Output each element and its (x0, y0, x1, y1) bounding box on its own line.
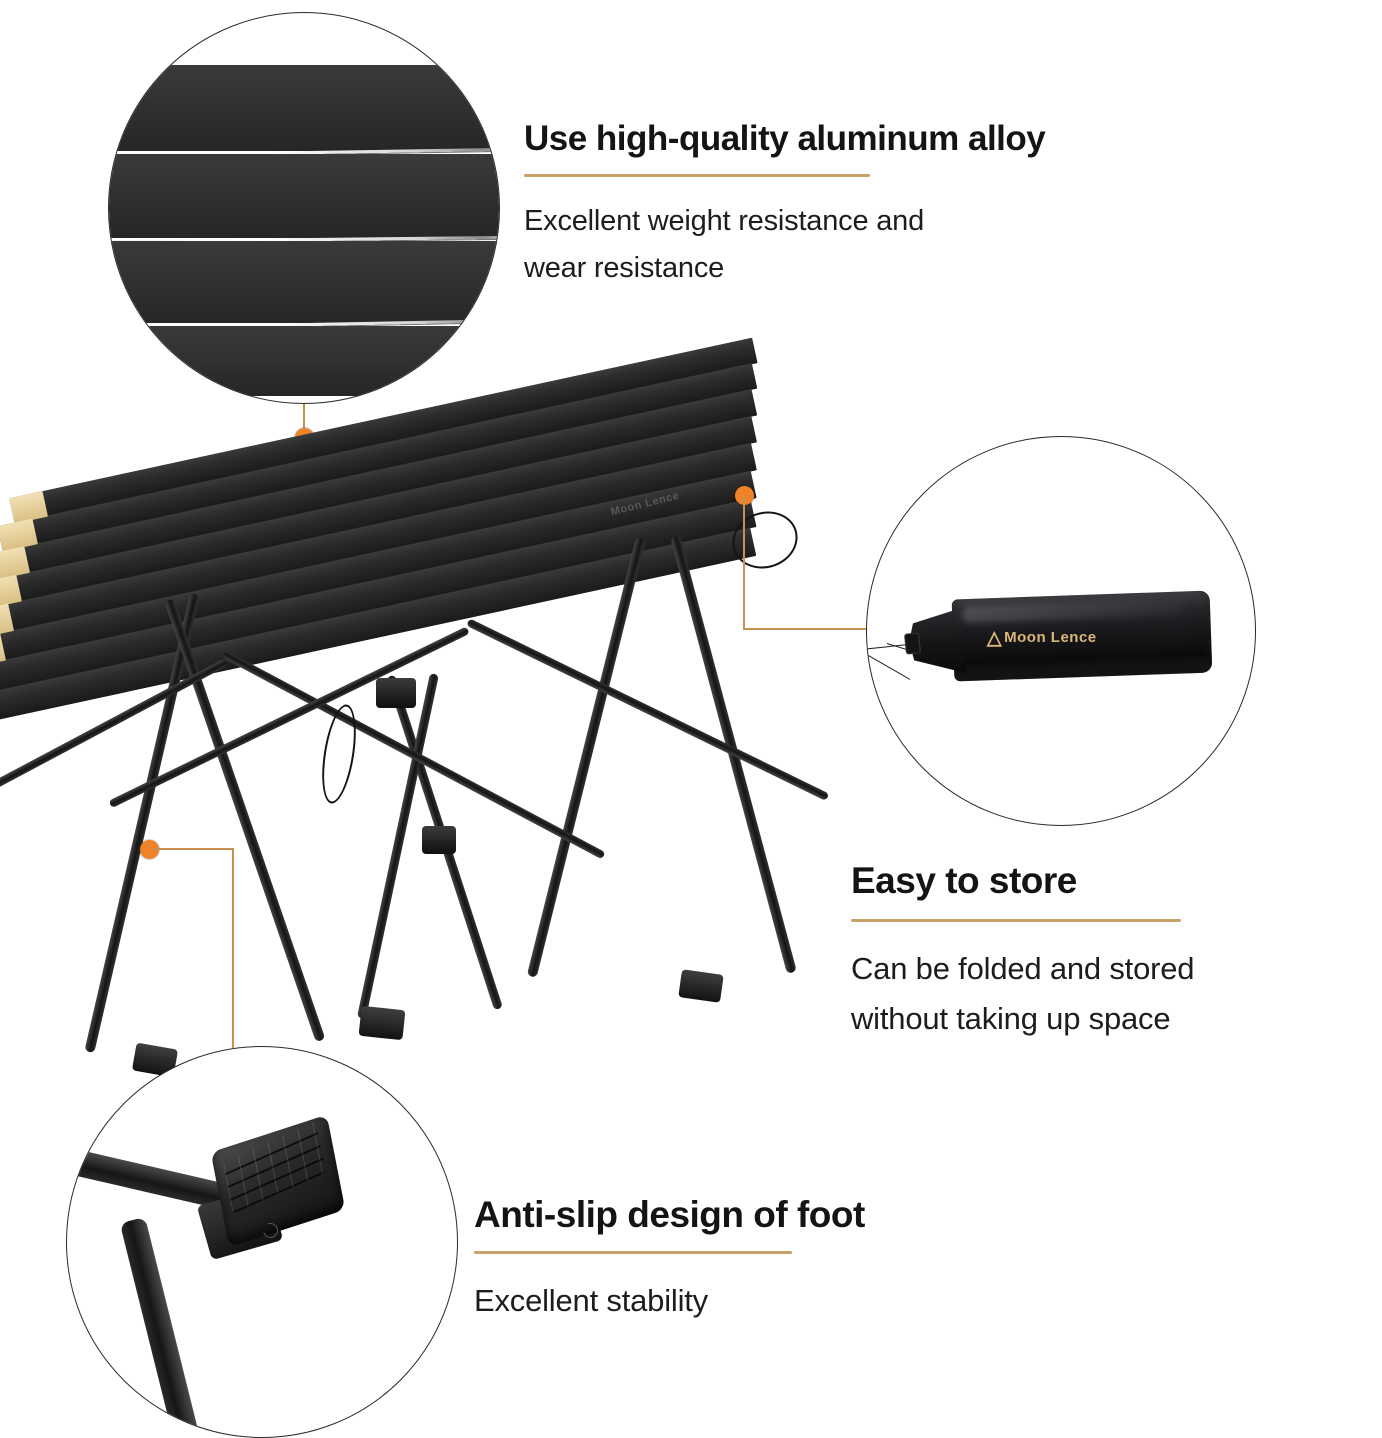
callout-easy-to-store: Easy to store Can be folded and stored w… (851, 862, 1194, 1044)
detail-circle-anti-slip-foot (66, 1046, 458, 1438)
connector-line-foot-v (232, 848, 234, 1048)
callout-title-aluminum: Use high-quality aluminum alloy (524, 121, 1045, 158)
infographic-canvas: Use high-quality aluminum alloy Excellen… (0, 0, 1382, 1425)
callout-body-line: without taking up space (851, 994, 1194, 1044)
callout-title-easy-store: Easy to store (851, 862, 1194, 901)
callout-body-line: Can be folded and stored (851, 944, 1194, 994)
foot-tread-pattern (223, 1121, 326, 1214)
connector-line-bag-h (743, 628, 875, 630)
callout-body-easy-store: Can be folded and stored without taking … (851, 944, 1194, 1044)
callout-body-line: wear resistance (524, 245, 1045, 292)
bag-brand-text: Moon Lence (1004, 629, 1097, 646)
frame-hub (376, 678, 416, 708)
foot-tube-lower (120, 1217, 206, 1438)
connector-line-bag-v (743, 496, 745, 630)
table-foot (678, 969, 723, 1003)
frame-hub (422, 826, 456, 854)
callout-rule-aluminum (524, 174, 870, 177)
moon-lence-mark-icon: △ (987, 629, 1002, 648)
table-foot (359, 1006, 406, 1040)
bag-highlight (962, 599, 1184, 623)
callout-title-anti-slip: Anti-slip design of foot (474, 1196, 865, 1235)
connector-line-foot-h (152, 848, 234, 850)
callout-body-aluminum: Excellent weight resistance and wear res… (524, 198, 1045, 292)
callout-rule-anti-slip (474, 1251, 792, 1254)
product-image-folding-table: Moon Lence (0, 386, 784, 1066)
detail-circle-slats (108, 12, 500, 404)
callout-anti-slip-foot: Anti-slip design of foot Excellent stabi… (474, 1196, 865, 1326)
detail-circle-storage-bag: △Moon Lence (866, 436, 1256, 826)
bag-brand-logo: △Moon Lence (987, 627, 1097, 646)
callout-aluminum-alloy: Use high-quality aluminum alloy Excellen… (524, 121, 1045, 292)
bag-drawstring (866, 653, 910, 680)
callout-body-line: Excellent weight resistance and (524, 198, 1045, 245)
slat-closeup-image (108, 65, 500, 365)
callout-body-line: Excellent stability (474, 1276, 865, 1326)
callout-body-anti-slip: Excellent stability (474, 1276, 865, 1326)
callout-rule-easy-store (851, 919, 1181, 922)
